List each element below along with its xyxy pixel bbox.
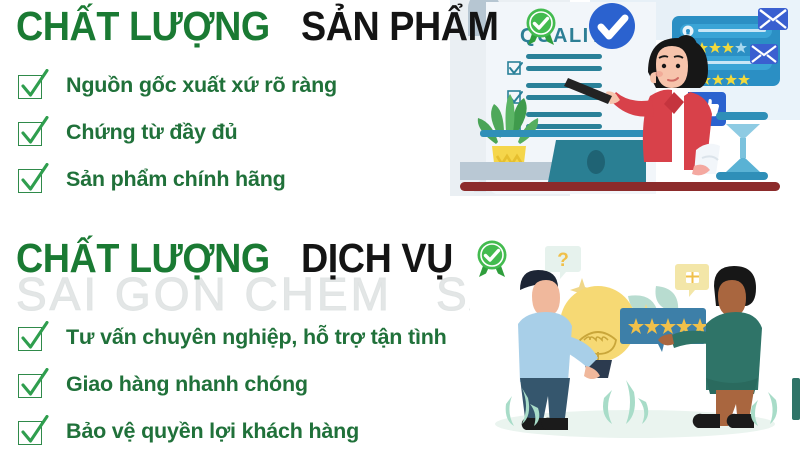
section-1-heading-green: CHẤT LƯỢNG: [16, 6, 270, 47]
envelope-icon: [750, 44, 778, 64]
svg-text:?: ?: [557, 250, 569, 271]
checkbox-checked-icon: [18, 419, 44, 445]
section-1-heading-black: SẢN PHẨM: [301, 6, 499, 47]
section-2-heading-green: CHẤT LƯỢNG: [16, 238, 270, 279]
list-item: Sản phẩm chính hãng: [18, 156, 337, 203]
list-item: Bảo vệ quyền lợi khách hàng: [18, 408, 447, 450]
section-2-heading-black: DỊCH VỤ: [301, 238, 453, 279]
section-1-list: Nguồn gốc xuất xứ rõ ràng Chứng từ đầy đ…: [18, 62, 337, 203]
checkbox-checked-icon: [18, 73, 44, 99]
laptop-icon: [548, 140, 646, 182]
section-2-list: Tư vấn chuyên nghiệp, hỗ trợ tận tình Gi…: [18, 314, 447, 450]
list-item-label: Tư vấn chuyên nghiệp, hỗ trợ tận tình: [66, 325, 447, 350]
service-handoff-illustration: ?: [470, 228, 800, 450]
list-item-label: Nguồn gốc xuất xứ rõ ràng: [66, 73, 337, 98]
list-item-label: Chứng từ đầy đủ: [66, 120, 237, 145]
blue-check-badge-icon: [589, 3, 635, 49]
list-item-label: Sản phẩm chính hãng: [66, 167, 286, 192]
list-item-label: Giao hàng nhanh chóng: [66, 372, 308, 397]
section-2-heading: CHẤT LƯỢNG DỊCH VỤ: [16, 238, 509, 279]
list-item: Tư vấn chuyên nghiệp, hỗ trợ tận tình: [18, 314, 447, 361]
checkbox-checked-icon: [18, 120, 44, 146]
list-item: Giao hàng nhanh chóng: [18, 361, 447, 408]
list-item-label: Bảo vệ quyền lợi khách hàng: [66, 419, 359, 444]
checkbox-checked-icon: [18, 372, 44, 398]
list-item: Chứng từ đầy đủ: [18, 109, 337, 156]
award-ribbon-check-icon: [524, 7, 558, 47]
checkbox-checked-icon: [18, 167, 44, 193]
award-ribbon-check-icon: [475, 239, 509, 279]
envelope-icon: [758, 8, 788, 30]
promo-banner: SAI GON CHEM SAI GON CHEM CHẤT LƯỢNG SẢN…: [0, 0, 800, 450]
section-1-heading: CHẤT LƯỢNG SẢN PHẨM: [16, 6, 558, 47]
list-item: Nguồn gốc xuất xứ rõ ràng: [18, 62, 337, 109]
checkbox-checked-icon: [18, 325, 44, 351]
